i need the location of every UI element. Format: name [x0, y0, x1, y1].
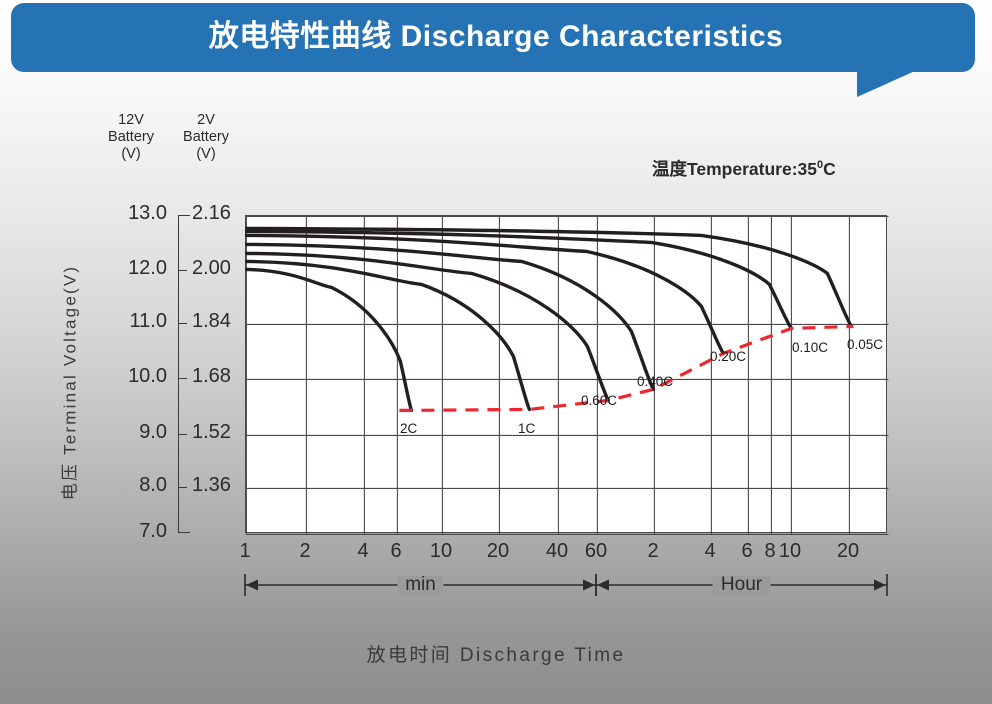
x-tick-1: 2	[299, 540, 310, 563]
axis-range-label-Hour: Hour	[721, 574, 762, 596]
banner-tail	[857, 71, 915, 97]
axis-arrowhead	[874, 580, 886, 591]
y-bracket-tick	[178, 487, 187, 488]
axis-range-label-min: min	[405, 574, 436, 596]
y-bracket-tick	[178, 378, 187, 379]
x-tick-4: 10	[430, 540, 452, 563]
title-banner: 放电特性曲线 Discharge Characteristics	[0, 0, 992, 100]
y-tick-12v-9.0: 9.0	[95, 421, 167, 444]
y-tick-12v-8.0: 8.0	[95, 474, 167, 497]
column-header-12v-line2: Battery	[95, 129, 167, 146]
column-header-12v: 12V Battery (V)	[95, 112, 167, 163]
y-tick-12v-12.0: 12.0	[95, 257, 167, 280]
column-header-2v-line3: (V)	[173, 146, 239, 163]
discharge-curve-0.60C	[246, 253, 608, 400]
y-bracket-tick	[178, 434, 187, 435]
cutoff-envelope	[399, 326, 853, 410]
y-bracket-tick	[178, 323, 187, 324]
discharge-curve-2C	[246, 269, 411, 410]
column-header-12v-line1: 12V	[95, 112, 167, 129]
cutoff-dashed-line	[399, 326, 853, 410]
curve-label-2C: 2C	[400, 421, 417, 436]
temperature-annotation: 温度Temperature:350C	[652, 156, 836, 181]
plot-svg	[245, 215, 890, 536]
y-tick-12v-11.0: 11.0	[95, 310, 167, 333]
plot-area: 2C1C0.60C0.40C0.20C0.10C0.05C	[245, 215, 887, 533]
x-tick-0: 1	[239, 540, 250, 563]
curve-label-0.40C: 0.40C	[637, 374, 673, 389]
x-tick-6: 40	[546, 540, 568, 563]
x-tick-10: 6	[741, 540, 752, 563]
temperature-prefix: 温度Temperature:35	[652, 159, 817, 179]
y-tick-12v-7.0: 7.0	[95, 520, 167, 543]
curve-label-0.05C: 0.05C	[847, 337, 883, 352]
y-axis-bracket	[178, 215, 190, 533]
x-tick-7: 60	[585, 540, 607, 563]
x-axis-caption: 放电时间 Discharge Time	[0, 640, 992, 667]
column-header-12v-line3: (V)	[95, 146, 167, 163]
axis-arrowhead	[246, 580, 258, 591]
temperature-suffix: C	[823, 159, 836, 179]
column-header-2v: 2V Battery (V)	[173, 112, 239, 163]
curve-label-1C: 1C	[518, 421, 535, 436]
discharge-curve-0.20C	[246, 235, 723, 353]
x-tick-12: 10	[779, 540, 801, 563]
axis-arrowhead	[583, 580, 595, 591]
discharge-curves	[246, 228, 851, 410]
curve-label-0.10C: 0.10C	[792, 340, 828, 355]
x-tick-13: 20	[837, 540, 859, 563]
y-tick-12v-13.0: 13.0	[95, 202, 167, 225]
column-header-2v-line1: 2V	[173, 112, 239, 129]
axis-arrowhead	[597, 580, 609, 591]
x-tick-2: 4	[357, 540, 368, 563]
curve-label-0.20C: 0.20C	[710, 349, 746, 364]
x-tick-8: 2	[647, 540, 658, 563]
y-tick-12v-10.0: 10.0	[95, 365, 167, 388]
page-title: 放电特性曲线 Discharge Characteristics	[0, 11, 992, 55]
column-header-2v-line2: Battery	[173, 129, 239, 146]
curve-label-0.60C: 0.60C	[581, 393, 617, 408]
y-bracket-tick	[178, 270, 187, 271]
gridlines	[246, 216, 888, 534]
discharge-characteristics-figure: 放电特性曲线 Discharge Characteristics 12V Bat…	[0, 0, 992, 704]
axis-range-bars	[0, 566, 992, 606]
x-tick-3: 6	[390, 540, 401, 563]
x-tick-9: 4	[704, 540, 715, 563]
x-tick-11: 8	[764, 540, 775, 563]
x-tick-5: 20	[487, 540, 509, 563]
y-axis-caption: 电压 Terminal Voltage(V)	[56, 223, 81, 543]
